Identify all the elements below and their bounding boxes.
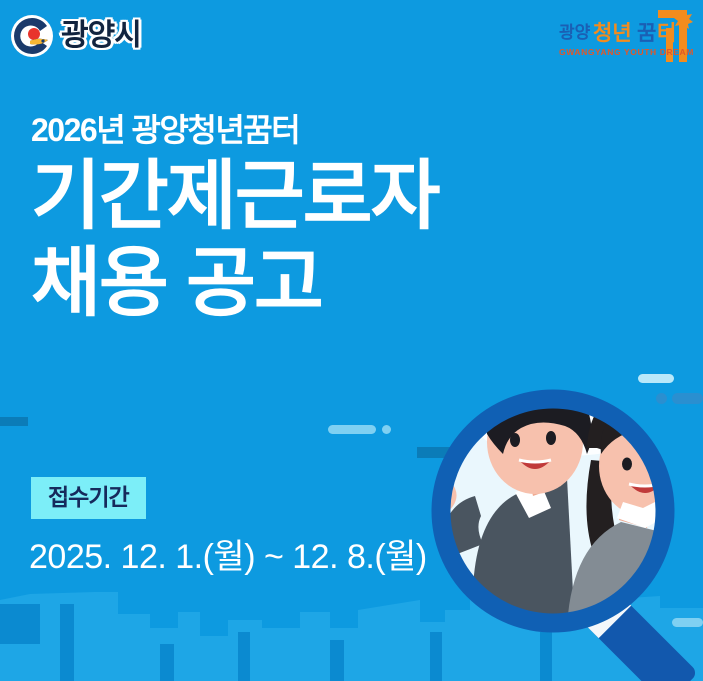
headline-block: 2026년 광양청년꿈터 기간제근로자 채용 공고 xyxy=(31,113,591,321)
decor-dash-light-1 xyxy=(328,425,376,434)
recruitment-poster: 광양시 광양 청년 꿈 터 GWANGYANG YOUTH DREAM HUB … xyxy=(0,0,703,681)
city-name-label: 광양시 xyxy=(61,21,141,51)
application-period-badge: 접수기간 xyxy=(31,477,146,519)
headline-eyebrow: 2026년 광양청년꿈터 xyxy=(31,113,591,148)
headline-line-2: 채용 공고 xyxy=(31,247,591,321)
hub-logo-english-subtitle: GWANGYANG YOUTH DREAM HUB xyxy=(559,47,695,57)
hub-logo-text-blue-2: 꿈 xyxy=(637,22,656,45)
program-logo: 광양 청년 꿈 터 GWANGYANG YOUTH DREAM HUB xyxy=(555,4,695,66)
decor-dot-light-1 xyxy=(382,425,391,434)
decor-block-dark-3 xyxy=(0,604,40,644)
hub-logo-text-orange: 청년 xyxy=(593,22,632,45)
hub-logo-text-blue: 광양 xyxy=(559,23,591,42)
decor-block-dark-2 xyxy=(0,417,28,426)
magnifying-glass-illustration xyxy=(415,378,703,681)
headline-line-1: 기간제근로자 xyxy=(31,160,591,234)
gwangyang-city-emblem-icon xyxy=(10,14,54,58)
application-period-date: 2025. 12. 1.(월) ~ 12. 8.(월) xyxy=(29,537,427,578)
hub-logo-text-orange-2: 터 xyxy=(657,22,676,45)
city-logo: 광양시 xyxy=(10,14,141,58)
